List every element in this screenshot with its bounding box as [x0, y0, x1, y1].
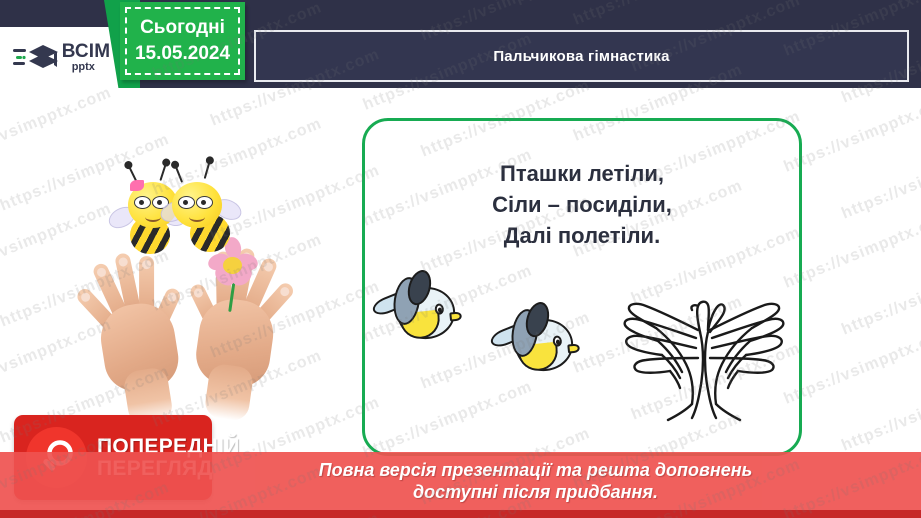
poem-text: Пташки летіли, Сіли – посиділи, Далі пол… [372, 158, 792, 252]
presentation-slide: ВСІМ pptx Сьогодні 15.05.2024 Пальчикова… [0, 0, 921, 518]
date-badge: Сьогодні 15.05.2024 [120, 2, 245, 80]
purchase-notice-line-2: доступні після придбання. [319, 481, 753, 504]
purchase-notice-line-1: Повна версія презентації та решта доповн… [319, 459, 753, 482]
logo-main-text: ВСІМ [62, 42, 111, 61]
hands-forming-bird-line-drawing [612, 278, 792, 428]
poem-line-3: Далі полетіли. [372, 220, 792, 251]
logo-sub-text: pptx [72, 62, 95, 73]
bird-icon-1 [371, 268, 463, 356]
bird-icon-2 [489, 300, 581, 388]
bee-male-icon [162, 166, 258, 258]
bees-on-hands-illustration [88, 160, 328, 415]
poem-line-1: Пташки летіли, [372, 158, 792, 189]
two-cartoon-birds-illustration [375, 272, 595, 402]
brand-logo[interactable]: ВСІМ pptx [0, 27, 123, 88]
child-hand-left [80, 246, 196, 418]
date-badge-label: Сьогодні [140, 17, 225, 39]
page-title: Пальчикова гімнастика [493, 48, 669, 65]
date-badge-value: 15.05.2024 [135, 43, 230, 65]
slide-title-bar: Пальчикова гімнастика [254, 30, 909, 82]
banner-bottom-strip [0, 510, 921, 518]
poem-line-2: Сіли – посиділи, [372, 189, 792, 220]
purchase-notice-banner: Повна версія презентації та решта доповн… [0, 452, 921, 510]
graduation-cap-icon [13, 41, 59, 75]
